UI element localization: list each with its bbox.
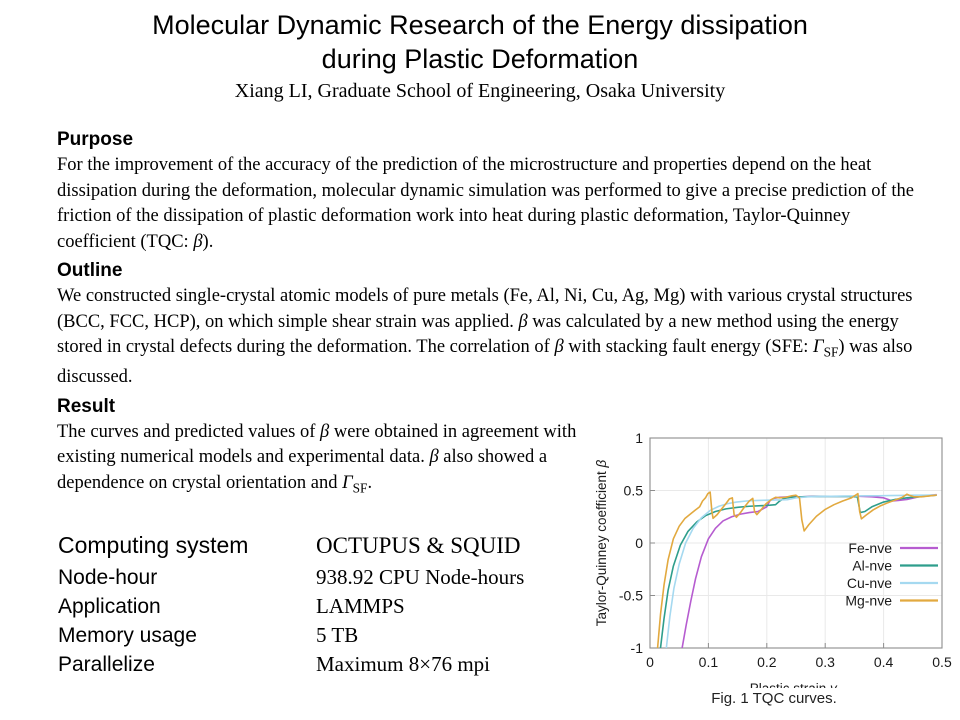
parallelize-label: Parallelize <box>58 650 316 679</box>
memory-usage-value: 5 TB <box>316 621 618 650</box>
x-tick-label: 0.1 <box>699 654 719 670</box>
figure-tqc-curves: 00.10.20.30.40.510.50-0.5-1Fe-nveAl-nveC… <box>588 420 960 716</box>
legend-label-mg-nve: Mg-nve <box>845 593 892 609</box>
section-heading-outline: Outline <box>57 259 917 283</box>
tqc-line-chart: 00.10.20.30.40.510.50-0.5-1Fe-nveAl-nveC… <box>588 420 960 688</box>
x-tick-label: 0.2 <box>757 654 777 670</box>
chart-legend: Fe-nveAl-nveCu-nveMg-nve <box>845 540 938 609</box>
y-tick-label: 1 <box>635 430 643 446</box>
section-body-result: The curves and predicted values of β wer… <box>57 420 627 501</box>
legend-label-fe-nve: Fe-nve <box>848 540 892 556</box>
x-axis-title: Plastic strain γp <box>750 681 843 688</box>
legend-label-al-nve: Al-nve <box>852 558 892 574</box>
computing-system-table: Computing system OCTUPUS & SQUID Node-ho… <box>58 528 618 679</box>
y-tick-label: 0.5 <box>624 483 644 499</box>
figure-caption: Fig. 1 TQC curves. <box>588 690 960 707</box>
section-body-purpose: For the improvement of the accuracy of t… <box>57 153 917 255</box>
series-line-mg-nve <box>658 492 937 648</box>
node-hour-value: 938.92 CPU Node-hours <box>316 563 618 592</box>
table-row: Node-hour 938.92 CPU Node-hours <box>58 563 618 592</box>
legend-label-cu-nve: Cu-nve <box>847 575 892 591</box>
y-tick-label: -1 <box>631 640 644 656</box>
series-group <box>658 492 937 648</box>
y-tick-label: -0.5 <box>619 588 643 604</box>
section-heading-result: Result <box>57 395 917 419</box>
section-body-outline: We constructed single-crystal atomic mod… <box>57 284 917 391</box>
table-row: Application LAMMPS <box>58 592 618 621</box>
x-tick-label: 0.4 <box>874 654 894 670</box>
application-value: LAMMPS <box>316 592 618 621</box>
application-label: Application <box>58 592 316 621</box>
series-line-fe-nve <box>682 495 936 648</box>
y-axis-title: Taylor-Quinney coefficient β <box>594 459 609 626</box>
system-value: OCTUPUS & SQUID <box>316 528 618 563</box>
author-affiliation: Xiang LI, Graduate School of Engineering… <box>0 78 960 104</box>
table-row: Parallelize Maximum 8×76 mpi <box>58 650 618 679</box>
x-tick-label: 0.3 <box>815 654 835 670</box>
table-row-header: Computing system OCTUPUS & SQUID <box>58 528 618 563</box>
memory-usage-label: Memory usage <box>58 621 316 650</box>
poster-title-block: Molecular Dynamic Research of the Energy… <box>0 8 960 104</box>
system-label: Computing system <box>58 528 316 563</box>
table-row: Memory usage 5 TB <box>58 621 618 650</box>
node-hour-label: Node-hour <box>58 563 316 592</box>
title-line-1: Molecular Dynamic Research of the Energy… <box>0 8 960 42</box>
y-tick-label: 0 <box>635 535 643 551</box>
x-tick-label: 0.5 <box>932 654 952 670</box>
title-line-2: during Plastic Deformation <box>0 42 960 76</box>
x-tick-label: 0 <box>646 654 654 670</box>
section-heading-purpose: Purpose <box>57 128 917 152</box>
parallelize-value: Maximum 8×76 mpi <box>316 650 618 679</box>
